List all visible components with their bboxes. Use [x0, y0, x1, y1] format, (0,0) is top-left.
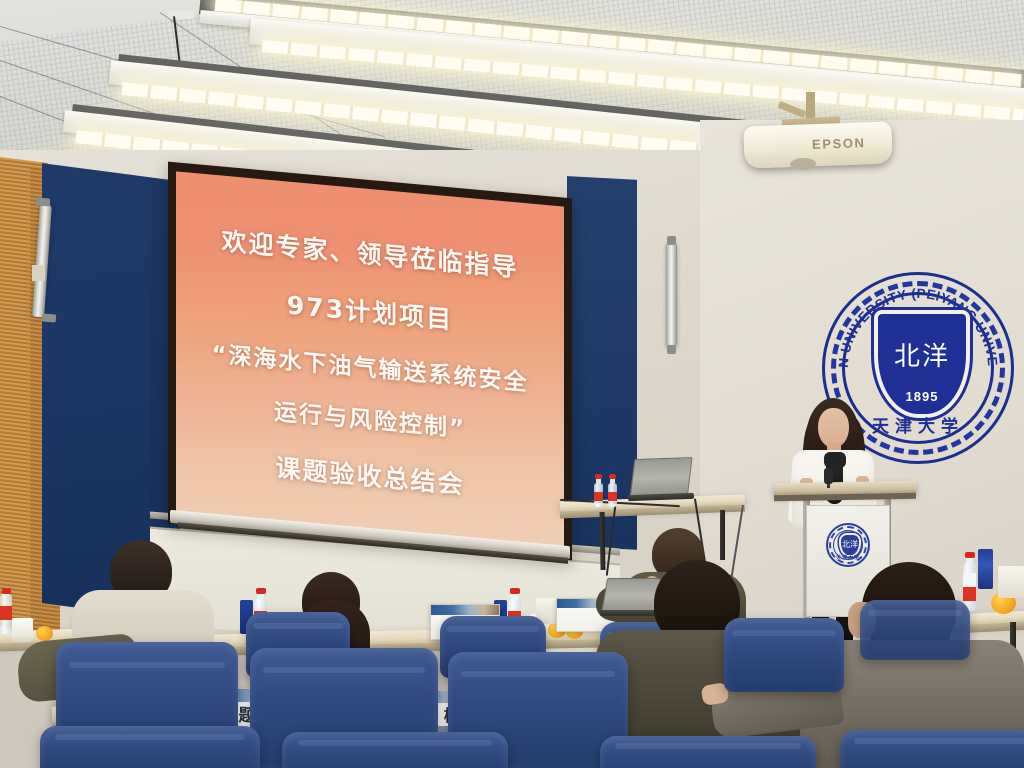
- water-bottle[interactable]: [0, 588, 12, 634]
- ceiling-wire-anchor: [168, 10, 194, 19]
- speaker-face: [818, 408, 849, 448]
- chair[interactable]: [724, 618, 844, 692]
- projection-screen-surface: 欢迎专家、领导莅临指导 973计划项目 “深海水下油气输送系统安全 运行与风险控…: [176, 171, 564, 550]
- slide-line-1: 欢迎专家、领导莅临指导: [176, 217, 564, 288]
- seal-year: 1895: [878, 389, 966, 404]
- bottle-label: [608, 492, 617, 501]
- bottle-body: [594, 483, 603, 507]
- projector-brand-label: EPSON: [812, 135, 866, 152]
- seal-shield-characters: 北洋: [878, 336, 966, 373]
- table-leg: [720, 510, 725, 560]
- bottle-body: [0, 594, 12, 634]
- tissue-box: [998, 566, 1024, 598]
- bottle-label: [594, 492, 603, 501]
- chair[interactable]: [840, 730, 1024, 768]
- chair[interactable]: [40, 726, 260, 768]
- bottle-label: [963, 587, 976, 601]
- conference-room-photo: EPSON 欢迎专家、领导莅临指导 973计划项目 “深海水下油气输送系统安全 …: [0, 0, 1024, 768]
- wall-light-fixture: [666, 243, 677, 347]
- seal-shield: 北洋: [839, 533, 861, 557]
- seal-shield: 北洋 1895: [874, 310, 970, 418]
- bottle-label: [0, 606, 12, 620]
- bottle-label: [963, 573, 976, 587]
- table-leg: [599, 512, 605, 570]
- water-bottle[interactable]: [594, 474, 603, 507]
- chair[interactable]: [282, 732, 508, 768]
- paper-cup[interactable]: [12, 618, 33, 642]
- wall-switch-plate[interactable]: [32, 265, 45, 281]
- wall-light-cap: [36, 198, 51, 207]
- chair[interactable]: [860, 600, 970, 660]
- speaker-scarf-knot: [824, 452, 846, 468]
- orange-fruit: [36, 626, 53, 641]
- water-bottle[interactable]: [608, 474, 617, 507]
- bottle-body: [608, 483, 617, 507]
- wall-light-cap: [667, 345, 676, 354]
- wall-light-cap: [42, 314, 57, 323]
- water-bottle[interactable]: [963, 552, 976, 611]
- wall-light-cap: [667, 236, 676, 245]
- name-card-header: [431, 605, 499, 615]
- laptop-screen[interactable]: [601, 578, 661, 614]
- chair[interactable]: [600, 736, 816, 768]
- water-bottle[interactable]: [978, 549, 993, 589]
- laptop-base[interactable]: [600, 610, 660, 616]
- university-seal-podium: 北洋 天津大学: [826, 523, 870, 567]
- seal-chinese-name: 天津大学: [826, 554, 870, 561]
- slide-content: 欢迎专家、领导莅临指导 973计划项目 “深海水下油气输送系统安全 运行与风险控…: [176, 217, 564, 510]
- podium-microphone[interactable]: [824, 468, 833, 484]
- seal-shield-characters: 北洋: [841, 539, 859, 550]
- slide-line-5: 课题验收总结会: [176, 439, 564, 510]
- projection-screen-frame: 欢迎专家、领导莅临指导 973计划项目 “深海水下油气输送系统安全 运行与风险控…: [168, 162, 572, 561]
